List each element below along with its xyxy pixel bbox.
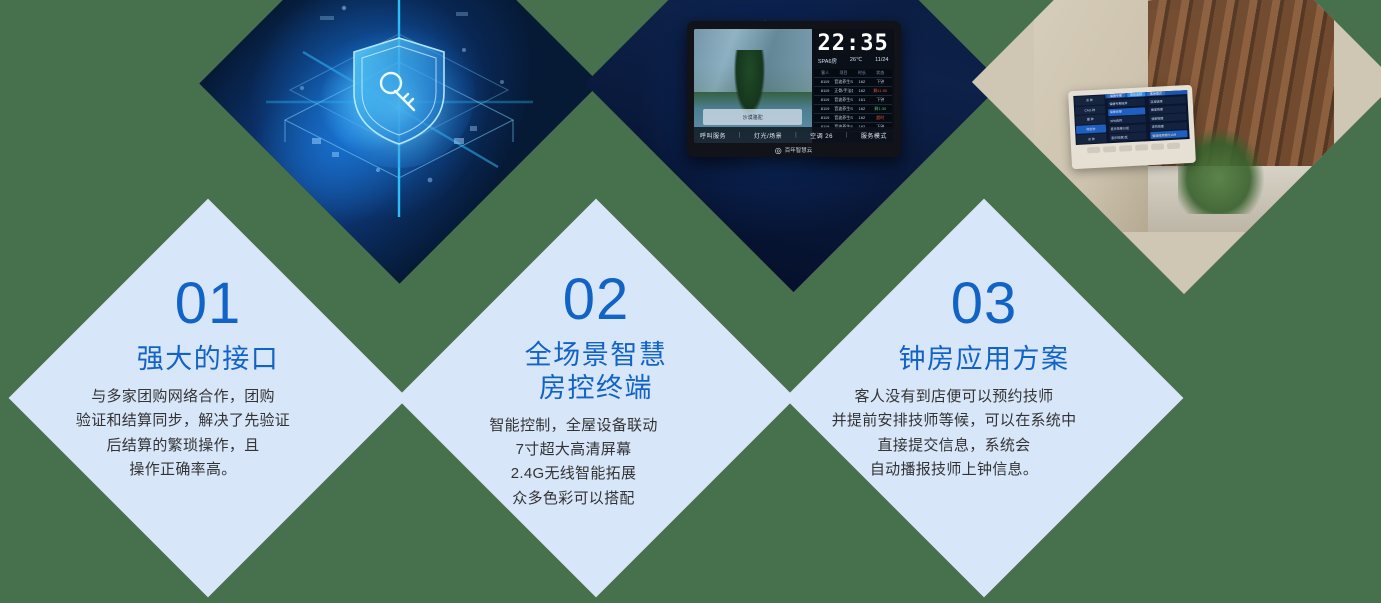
- status-badge: 下钟: [871, 97, 889, 103]
- panel-menu-item[interactable]: 保健专案技师: [1107, 98, 1145, 107]
- toolbar-divider: |: [795, 132, 797, 138]
- feature-card-02[interactable]: 02 全场景智慧 房控终端 智能控制，全屋设备联动 7寸超大高清屏幕 2.4G无…: [397, 199, 796, 598]
- toolbar-button[interactable]: 灯光/场景: [754, 131, 782, 140]
- panel-left-item[interactable]: 点 钟: [1076, 134, 1106, 144]
- brand-logo-icon: ◎: [775, 146, 782, 155]
- panel-left-item[interactable]: CALL钟: [1075, 105, 1105, 115]
- card-number-01: 01: [175, 275, 242, 333]
- table-row: 8119音波养生SPA162剩1:30: [814, 105, 892, 114]
- table-cell: 162: [853, 106, 871, 112]
- panel-menu-item[interactable]: SPA技师: [1108, 115, 1146, 124]
- card-description-02: 智能控制，全屋设备联动 7寸超大高清屏幕 2.4G无线智能拓展 众多色彩可以搭配: [414, 414, 734, 511]
- toolbar-button[interactable]: 服务模式: [861, 131, 887, 140]
- panel-menu-item[interactable]: 区域选择: [1148, 96, 1186, 105]
- smart-room-tablet-photo: CSUZBO 沙漠骆驼 22:35: [646, 0, 941, 231]
- panel-left-item[interactable]: 指定钟: [1076, 124, 1106, 134]
- table-cell: 音波养生SPA: [834, 115, 852, 121]
- toolbar-divider: |: [739, 132, 741, 138]
- card-title-02: 全场景智慧 房控终端: [525, 339, 668, 405]
- card-description-03: 客人没有到店便可以预约技师 并提前安排技师等候，可以在系统中 直接提交信息，系统…: [785, 385, 1134, 482]
- panel-menu-item[interactable]: 音乐按摩10区: [1109, 124, 1147, 133]
- table-cell: 8119: [816, 79, 834, 85]
- table-cell: 音波养生SPA: [834, 106, 852, 112]
- panel-menu-item[interactable]: 推拿按摩: [1149, 105, 1187, 114]
- table-cell: 162: [853, 88, 871, 94]
- feature-diamond-board: CSUZBO 沙漠骆驼 22:35: [0, 0, 1381, 603]
- table-cell: 161: [853, 97, 871, 103]
- toolbar-divider: |: [846, 132, 848, 138]
- card-number-02: 02: [563, 271, 630, 329]
- tablet-device: CSUZBO 沙漠骆驼 22:35: [687, 21, 901, 157]
- card-image-01: [199, 0, 599, 284]
- tablet-temp: 26℃: [850, 57, 862, 65]
- panel-left-item[interactable]: 圈 钟: [1075, 115, 1105, 125]
- status-badge: 下钟: [871, 79, 889, 85]
- wall-control-panel[interactable]: 点 钟CALL钟圈 钟指定钟点 钟 保健专案项目选择客房模式 保健专案技师保健按…: [1068, 85, 1196, 169]
- table-cell: 音波养生SPA: [834, 97, 852, 103]
- table-row: 8119音波养生SPA162超时: [814, 114, 892, 123]
- card-number-03: 03: [951, 275, 1018, 333]
- toolbar-button[interactable]: 空调 26: [810, 131, 833, 140]
- table-cell: 音波养生SPA: [834, 79, 852, 85]
- brand-name: 百年智慧云: [785, 146, 813, 154]
- table-cell: 8119: [816, 88, 834, 94]
- table-cell: 8119: [816, 115, 834, 121]
- card-title-01: 强大的接口: [137, 343, 280, 376]
- panel-menu-item[interactable]: 音乐按摩2区: [1109, 132, 1147, 141]
- tablet-date: 11/24: [875, 57, 888, 65]
- table-cell: 162: [853, 79, 871, 85]
- tablet-room-label: SPA6房: [818, 57, 837, 65]
- table-row: 8119音波养生SPA162下钟: [814, 78, 892, 87]
- tablet-brand: ◎ 百年智慧云: [687, 144, 901, 156]
- media-title: 沙漠骆驼: [743, 114, 763, 121]
- table-cell: 8119: [816, 97, 834, 103]
- card-description-01: 与多家团购网络合作，团购 验证和结算同步，解决了先验证 后结算的繁琐操作，且 操…: [18, 385, 348, 482]
- table-header-cell: 客人: [816, 70, 834, 76]
- tablet-wallpaper: 沙漠骆驼: [694, 29, 812, 143]
- feature-card-01[interactable]: 01 强大的接口 与多家团购网络合作，团购 验证和结算同步，解决了先验证 后结算…: [9, 199, 408, 598]
- table-cell: 162: [853, 115, 871, 121]
- table-header-cell: 时长: [853, 70, 871, 76]
- table-header-row: 客人项目时长状态: [814, 69, 892, 78]
- tablet-clock: 22:35: [816, 33, 891, 55]
- table-cell: 正骨/手法奔骨疗: [834, 88, 852, 94]
- table-header-cell: 项目: [834, 70, 852, 76]
- status-badge: 剩11:50: [871, 88, 889, 94]
- tablet-toolbar[interactable]: 呼叫服务|灯光/场景|空调 26|服务模式: [694, 127, 894, 143]
- table-row: 8119正骨/手法奔骨疗162剩11:50: [814, 87, 892, 96]
- panel-menu-item[interactable]: 智能技师预约12/8: [1150, 130, 1188, 139]
- panel-menu-item[interactable]: 修脚按摩: [1149, 113, 1187, 122]
- panel-menu-item[interactable]: 保健按摩: [1108, 107, 1146, 116]
- table-row: 8119音波养生SPA161下钟: [814, 96, 892, 105]
- table-cell: 8119: [816, 106, 834, 112]
- card-title-03: 钟房应用方案: [899, 343, 1070, 376]
- room-panel-photo: 点 钟CALL钟圈 钟指定钟点 钟 保健专案项目选择客房模式 保健专案技师保健按…: [1034, 0, 1334, 232]
- toolbar-button[interactable]: 呼叫服务: [700, 131, 726, 140]
- status-badge: 超时: [871, 115, 889, 121]
- feature-card-03[interactable]: 03 钟房应用方案 客人没有到店便可以预约技师 并提前安排技师等候，可以在系统中…: [785, 199, 1184, 598]
- panel-left-item[interactable]: 点 钟: [1074, 95, 1104, 105]
- panel-menu-item[interactable]: 采耳按摩: [1150, 122, 1188, 131]
- table-header-cell: 状态: [871, 70, 889, 76]
- circuit-shield-illustration: [258, 0, 541, 225]
- status-badge: 剩1:30: [871, 106, 889, 112]
